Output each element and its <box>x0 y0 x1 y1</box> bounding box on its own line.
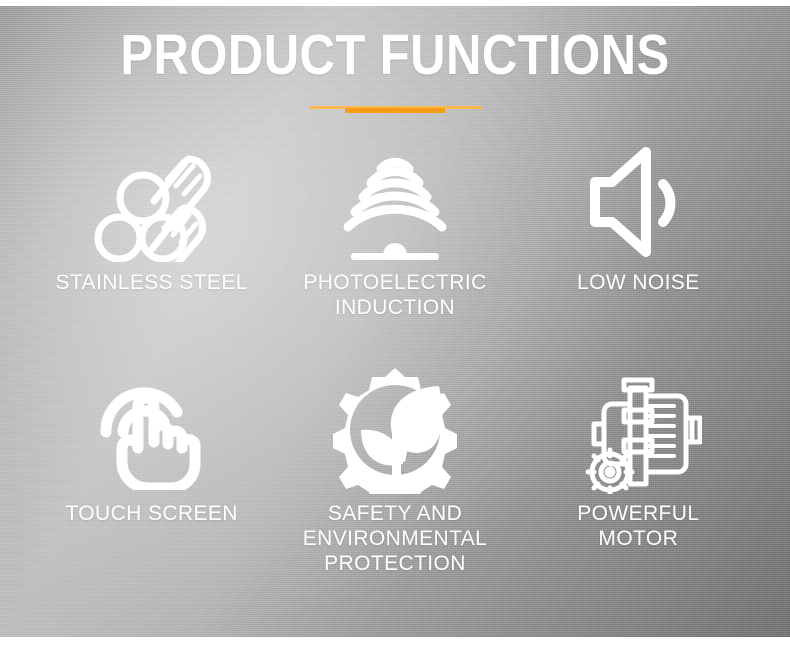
feature-safety-environmental-protection: SAFETY AND ENVIRONMENTAL PROTECTION <box>273 363 516 588</box>
title-divider <box>0 100 790 116</box>
poster-heading: PRODUCT FUNCTIONS <box>0 24 790 86</box>
feature-label: POWERFUL MOTOR <box>577 501 699 551</box>
page-title: PRODUCT FUNCTIONS <box>55 24 734 86</box>
feature-label: SAFETY AND ENVIRONMENTAL PROTECTION <box>303 501 488 576</box>
feature-powerful-motor: POWERFUL MOTOR <box>517 363 760 588</box>
sensor-waves-icon <box>335 138 455 266</box>
motor-icon <box>574 363 702 497</box>
product-functions-poster: PRODUCT FUNCTIONS <box>0 6 790 637</box>
feature-label: TOUCH SCREEN <box>65 501 237 526</box>
feature-stainless-steel: STAINLESS STEEL <box>30 138 273 363</box>
feature-photoelectric-induction: PHOTOELECTRIC INDUCTION <box>273 138 516 363</box>
divider-thick-rule <box>345 108 445 113</box>
speaker-icon <box>578 138 698 266</box>
feature-grid: STAINLESS STEEL PHOTOELECTRIC INDUCTI <box>30 138 760 588</box>
feature-touch-screen: TOUCH SCREEN <box>30 363 273 588</box>
feature-low-noise: LOW NOISE <box>517 138 760 363</box>
stacked-pipes-icon <box>92 138 212 266</box>
gear-leaf-icon <box>331 363 459 497</box>
feature-label: STAINLESS STEEL <box>55 270 247 295</box>
feature-label: PHOTOELECTRIC INDUCTION <box>303 270 486 320</box>
feature-label: LOW NOISE <box>577 270 700 295</box>
touch-hand-icon <box>92 363 212 497</box>
